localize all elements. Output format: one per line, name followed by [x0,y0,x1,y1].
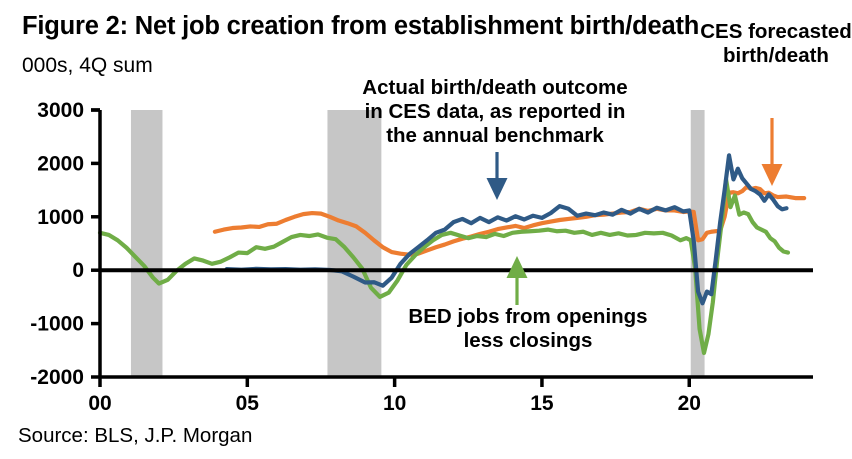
orange-annotation-arrow-head [762,164,783,186]
y-tick-label: 2000 [37,152,84,175]
y-tick-label: 3000 [37,99,84,122]
y-tick-label: 1000 [37,206,84,229]
x-tick-label: 10 [383,392,406,415]
y-tick-label: -2000 [30,366,84,389]
y-tick-label: -1000 [30,313,84,336]
green-annotation-arrow-head [507,256,528,278]
x-tick-label: 05 [236,392,260,415]
x-tick-label: 15 [530,392,554,415]
recession-band [131,110,163,377]
figure-source: Source: BLS, J.P. Morgan [18,424,252,448]
annotation-green-text: BED jobs from openings less closings [398,305,658,353]
annotation-blue-text: Actual birth/death outcome in CES data, … [352,76,638,149]
blue-annotation-arrow-head [487,178,508,200]
y-tick-label: 0 [72,259,84,282]
annotation-orange-text: CES forecasted birth/death [700,20,852,68]
figure-container: Figure 2: Net job creation from establis… [0,0,852,459]
x-tick-label: 00 [88,392,111,415]
recession-band [327,110,381,377]
chart-plot: -2000-100001000200030000005101520 [0,0,852,459]
x-tick-label: 20 [678,392,701,415]
